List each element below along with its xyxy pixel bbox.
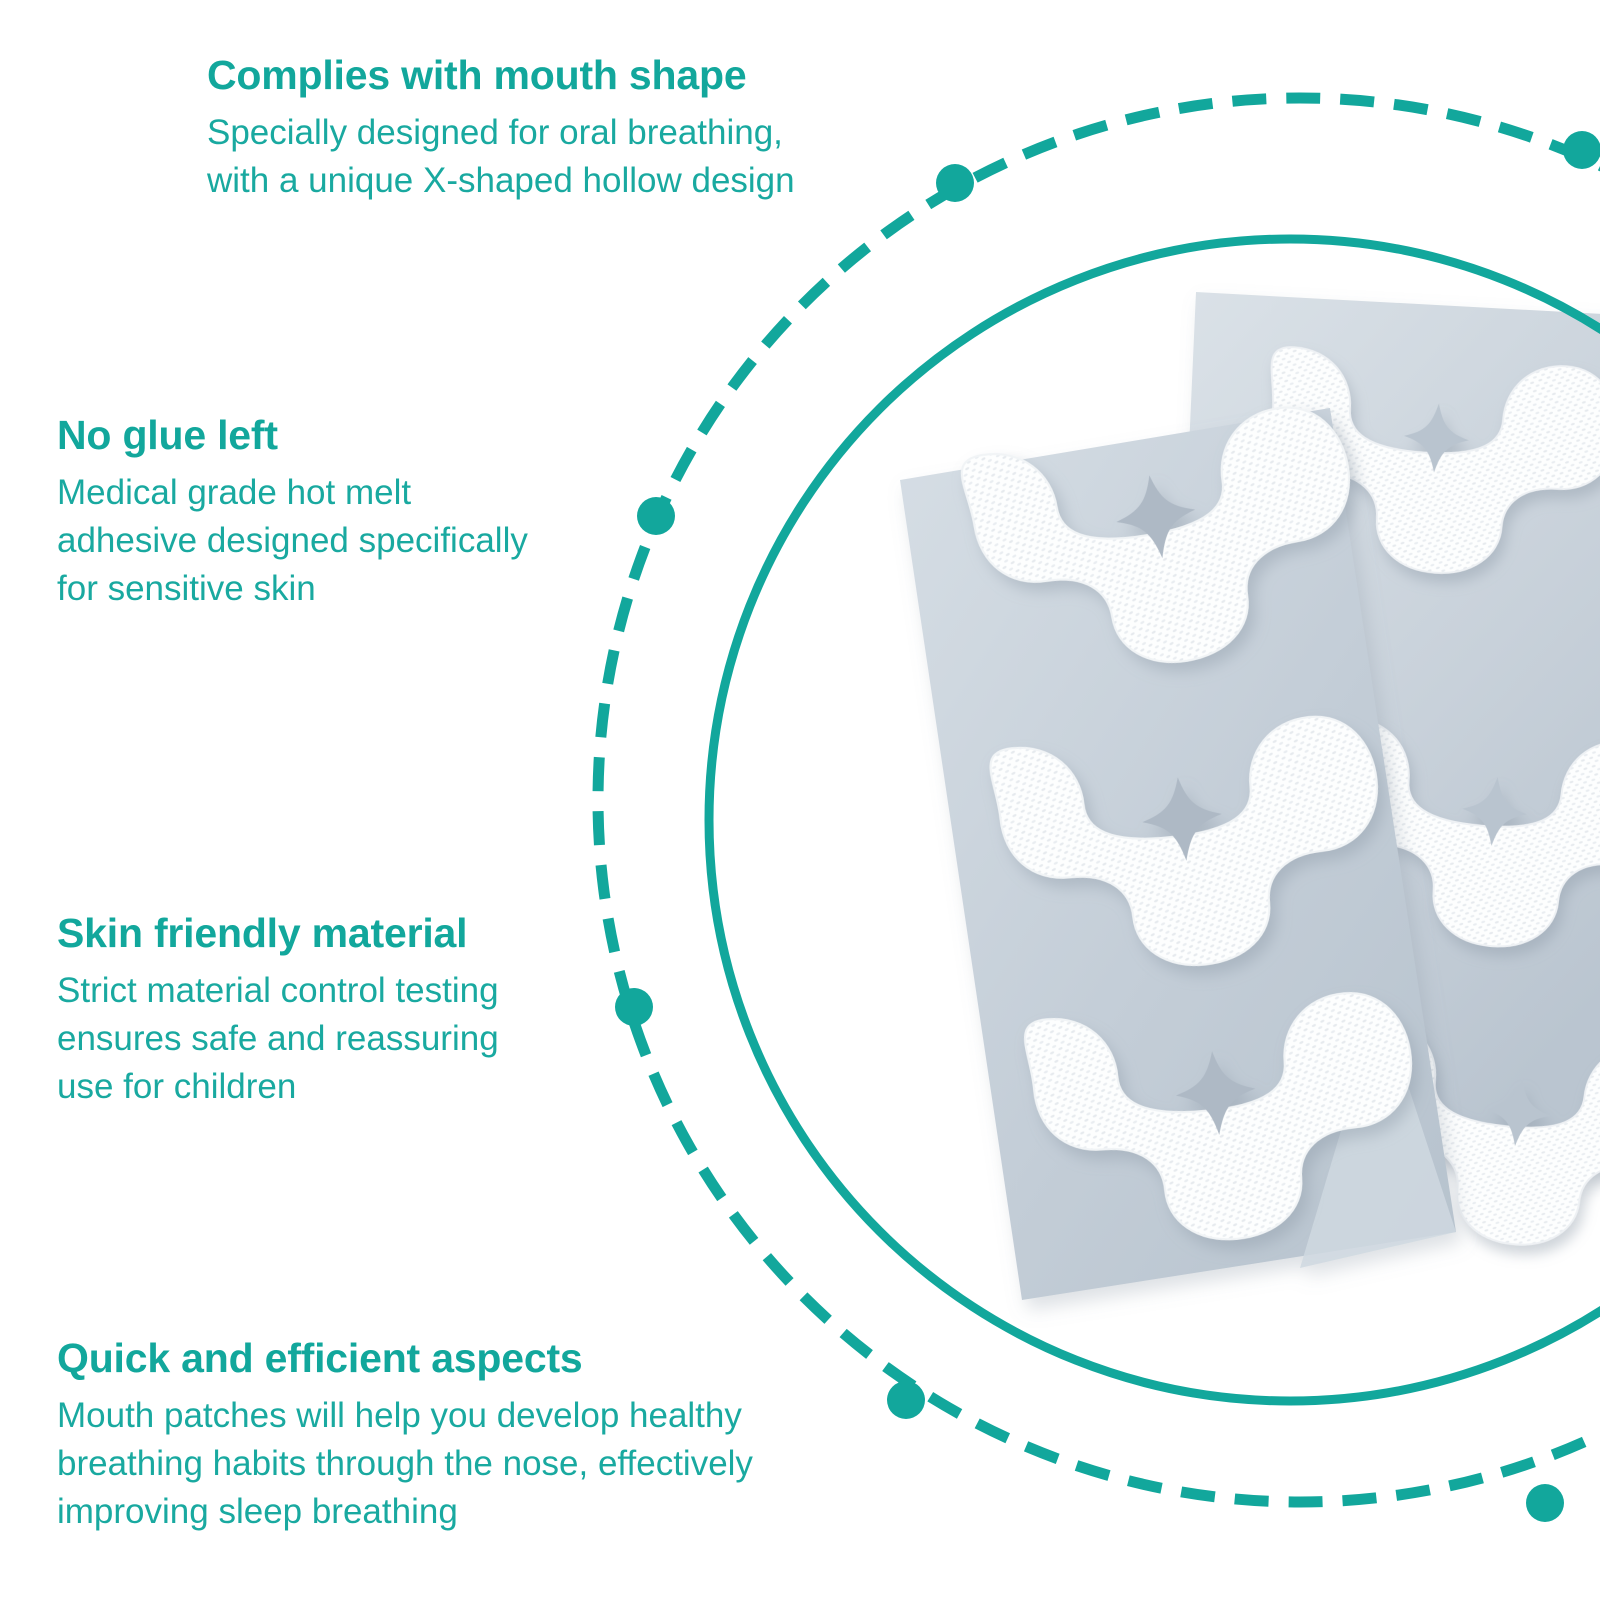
feature-body-line: with a unique X-shaped hollow design: [207, 157, 795, 205]
feature-skin-friendly-material: Skin friendly material Strict material c…: [57, 910, 499, 1111]
feature-title: Quick and efficient aspects: [57, 1335, 753, 1382]
dot-quick-efficient: [887, 1381, 925, 1419]
dot-edge-bottom-right: [1526, 1484, 1564, 1522]
feature-complies-with-mouth-shape: Complies with mouth shape Specially desi…: [207, 52, 795, 205]
feature-body-line: Medical grade hot melt: [57, 469, 528, 517]
feature-body-line: adhesive designed specifically: [57, 517, 528, 565]
dot-complies: [936, 164, 974, 202]
feature-body: Medical grade hot melt adhesive designed…: [57, 469, 528, 613]
feature-no-glue-left: No glue left Medical grade hot melt adhe…: [57, 412, 528, 613]
feature-body-line: Mouth patches will help you develop heal…: [57, 1392, 753, 1440]
feature-title: Skin friendly material: [57, 910, 499, 957]
feature-body: Specially designed for oral breathing, w…: [207, 109, 795, 205]
feature-title: No glue left: [57, 412, 528, 459]
infographic-root: Complies with mouth shape Specially desi…: [0, 0, 1600, 1600]
feature-body-line: for sensitive skin: [57, 565, 528, 613]
dot-skin-friendly: [615, 988, 653, 1026]
feature-body: Mouth patches will help you develop heal…: [57, 1392, 753, 1536]
feature-body-line: Specially designed for oral breathing,: [207, 109, 795, 157]
feature-body-line: improving sleep breathing: [57, 1488, 753, 1536]
feature-body-line: ensures safe and reassuring: [57, 1015, 499, 1063]
feature-quick-and-efficient-aspects: Quick and efficient aspects Mouth patche…: [57, 1335, 753, 1536]
dot-no-glue: [637, 497, 675, 535]
feature-body-line: Strict material control testing: [57, 967, 499, 1015]
feature-body: Strict material control testing ensures …: [57, 967, 499, 1111]
dot-edge-top-right: [1563, 131, 1600, 169]
feature-title: Complies with mouth shape: [207, 52, 795, 99]
mouth-patch-sheets-photo: [900, 292, 1600, 1300]
feature-body-line: use for children: [57, 1063, 499, 1111]
feature-body-line: breathing habits through the nose, effec…: [57, 1440, 753, 1488]
